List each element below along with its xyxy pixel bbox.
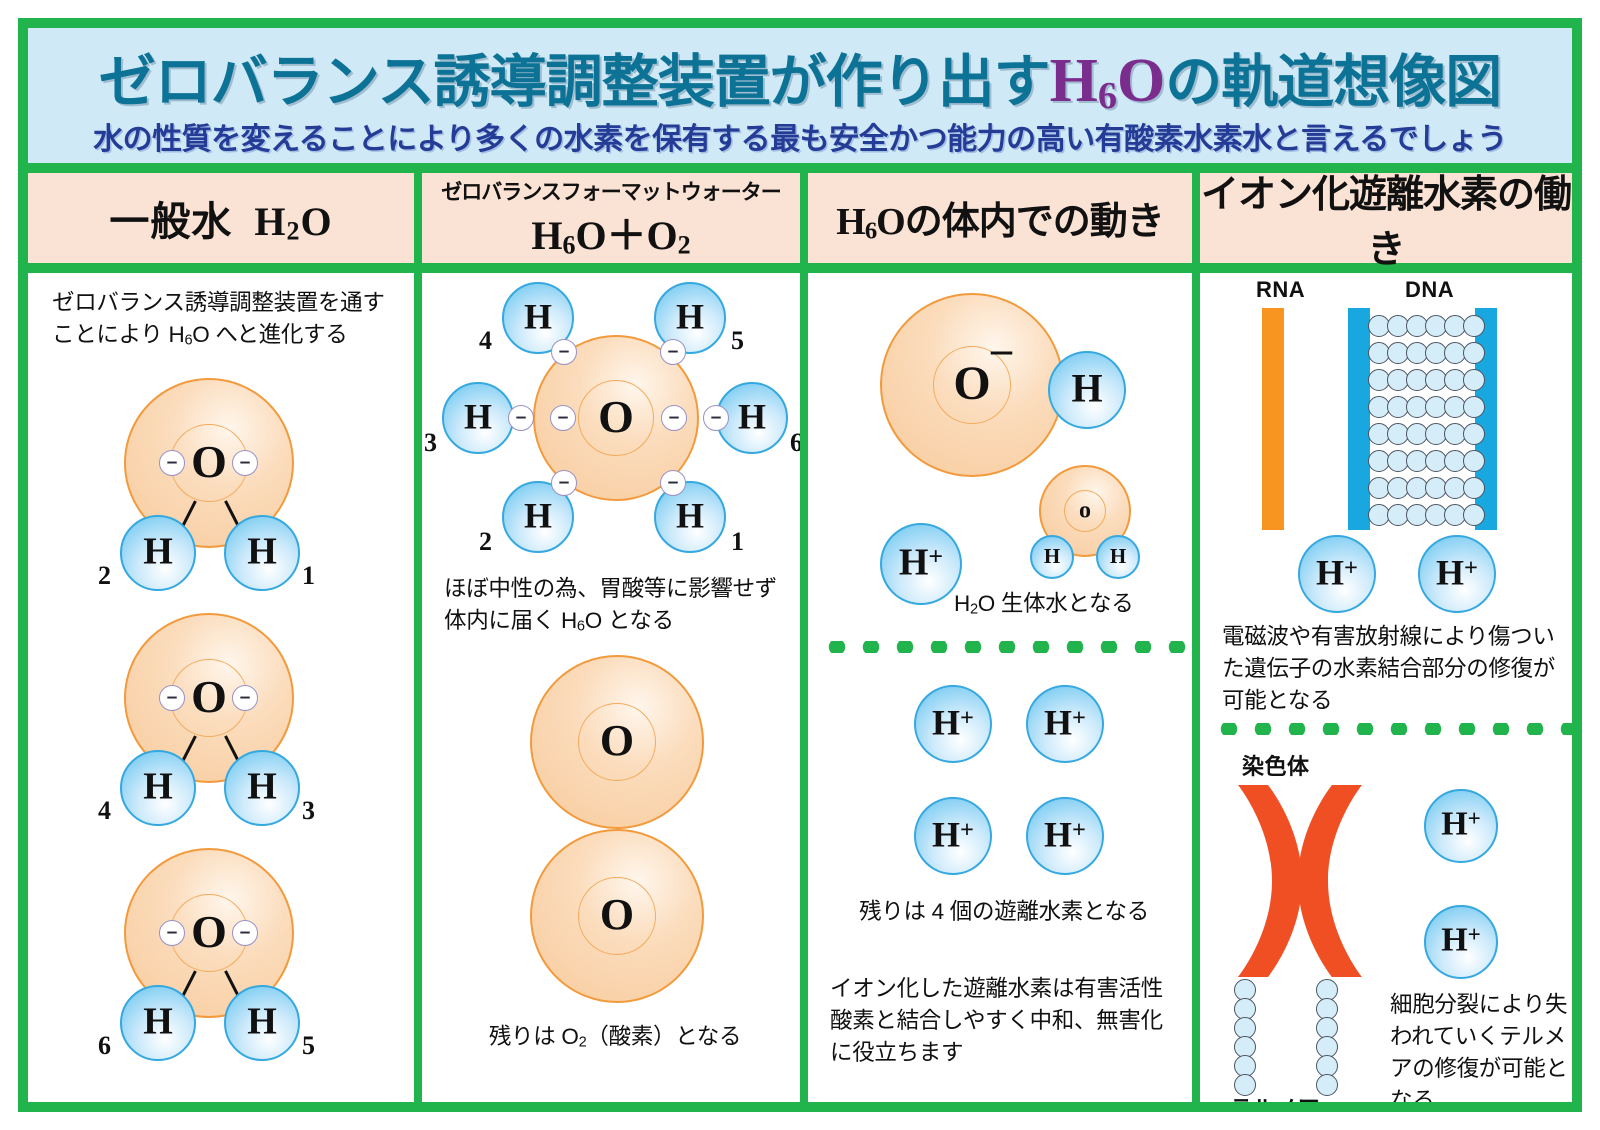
heading-small-text: ゼロバランスフォーマットウォーター (441, 176, 781, 206)
base-bead (1463, 504, 1485, 526)
oxygen-atom: O (530, 655, 704, 829)
electron-charge-icon: – (660, 339, 686, 365)
hydrogen-atom: H (1096, 535, 1140, 579)
chromosome-icon (1230, 781, 1370, 981)
biowater-caption: H2O 生体水となる (954, 588, 1192, 620)
hydrogen-atom: H (120, 750, 196, 826)
column-header-row: 一般水 H2O ゼロバランスフォーマットウォーター H6O＋O2 H6Oの体内で… (28, 173, 1572, 273)
oxygen-label: O (600, 893, 634, 937)
electron-charge-icon: – (159, 920, 185, 946)
oxygen-label: O (191, 674, 227, 720)
electron-charge-icon: – (550, 405, 576, 431)
oxygen-label: o (1079, 499, 1091, 523)
heading-formula: H6O＋O2 (441, 203, 781, 261)
column-heading-ionized-hydrogen: イオン化遊離水素の働き (1192, 173, 1572, 263)
electron-charge-icon: – (661, 405, 687, 431)
dna-base-pair-row (1368, 423, 1485, 445)
dna-label: DNA (1405, 277, 1454, 303)
column-body-row: ゼロバランス誘導調整装置を通すことにより H6O へと進化する O – – H … (28, 273, 1572, 1102)
hydrogen-index-label: 1 (731, 527, 744, 557)
h6o-caption: ほぼ中性の為、胃酸等に影響せず体内に届く H6O となる (444, 573, 790, 637)
dna-base-pair-row (1368, 396, 1485, 418)
oxygen-label: O (191, 909, 227, 955)
oxygen-label: O (600, 719, 634, 763)
base-bead (1463, 423, 1485, 445)
heading-text: H6Oの体内での動き (836, 190, 1163, 245)
hydrogen-atom: H (1048, 351, 1126, 429)
hydrogen-index-label: 2 (98, 561, 111, 591)
hydrogen-atom: H (224, 985, 300, 1061)
hydrogen-index-label: 3 (424, 428, 437, 458)
hydrogen-atom: H (1030, 535, 1074, 579)
oxygen-atom: O (880, 293, 1064, 477)
base-bead (1463, 369, 1485, 391)
oxygen-label: O (598, 394, 634, 440)
free-proton: H+ (1026, 685, 1104, 763)
electron-charge-icon: – (508, 405, 534, 431)
oxygen-label: O (191, 439, 227, 485)
column-heading-h6o-in-body: H6Oの体内での動き (800, 173, 1192, 263)
general-water-description: ゼロバランス誘導調整装置を通すことにより H6O へと進化する (52, 287, 392, 351)
free-proton: H+ (1418, 535, 1496, 613)
base-bead (1463, 477, 1485, 499)
column-h6o-in-body: O – H H+ o H H H2O 生体水となる H+ H+ (800, 273, 1192, 1102)
rna-strand (1262, 308, 1284, 530)
hydrogen-index-label: 3 (302, 796, 315, 826)
dna-base-pair-row (1368, 450, 1485, 472)
column-ionized-hydrogen: RNA DNA H+ H+ 電磁波や有害放射線により傷ついた遺伝子の水素結合部分… (1192, 273, 1572, 1102)
free-hydrogen-caption: 残りは 4 個の遊離水素となる (808, 896, 1192, 928)
base-bead (1463, 342, 1485, 364)
title-text-pre: ゼロバランス誘導調整装置が作り出す (99, 51, 1050, 114)
negative-charge-label: – (991, 326, 1012, 374)
chromosome-label: 染色体 (1242, 749, 1310, 781)
page-subtitle: 水の性質を変えることにより多くの水素を保有する最も安全かつ能力の高い有酸素水素水… (28, 114, 1572, 158)
electron-charge-icon: – (703, 405, 729, 431)
hydrogen-index-label: 1 (302, 561, 315, 591)
hydrogen-atom: H (224, 515, 300, 591)
hydrogen-index-label: 2 (479, 527, 492, 557)
column-heading-zero-balance-water: ゼロバランスフォーマットウォーター H6O＋O2 (414, 173, 800, 263)
hydrogen-atom: H (224, 750, 300, 826)
electron-charge-icon: – (232, 920, 258, 946)
title-text-post: の軌道想像図 (1165, 51, 1501, 114)
hydrogen-index-label: 5 (302, 1031, 315, 1061)
section-divider-dots (1212, 723, 1572, 735)
poster-header: ゼロバランス誘導調整装置が作り出すH6Oの軌道想像図 水の性質を変えることにより… (28, 28, 1572, 173)
electron-charge-icon: – (159, 450, 185, 476)
oxygen-atom: O (530, 829, 704, 1003)
free-proton: H+ (1424, 789, 1498, 863)
free-proton: H+ (1298, 535, 1376, 613)
free-proton: H+ (1026, 797, 1104, 875)
hydrogen-index-label: 5 (731, 326, 744, 356)
free-proton: H+ (880, 523, 962, 605)
base-bead (1463, 450, 1485, 472)
page-title: ゼロバランス誘導調整装置が作り出すH6Oの軌道想像図 (28, 36, 1572, 118)
free-proton: H+ (914, 797, 992, 875)
column-zero-balance-water: O H H H H H H – – – – – – – – 4 5 (414, 273, 800, 1102)
free-proton: H+ (914, 685, 992, 763)
hydrogen-index-label: 4 (479, 326, 492, 356)
dna-repair-caption: 電磁波や有害放射線により傷ついた遺伝子の水素結合部分の修復が可能となる (1222, 621, 1562, 717)
electron-charge-icon: – (551, 470, 577, 496)
dna-base-pair-row (1368, 504, 1485, 526)
free-hydrogen-note: イオン化した遊離水素は有害活性酸素と結合しやすく中和、無害化に役立ちます (830, 973, 1178, 1069)
hydrogen-index-label: 6 (98, 1031, 111, 1061)
electron-charge-icon: – (232, 450, 258, 476)
hydrogen-index-label: 4 (98, 796, 111, 826)
column-heading-general-water: 一般水 H2O (28, 173, 414, 263)
telomere-strand-left (1234, 979, 1256, 1096)
poster-frame: ゼロバランス誘導調整装置が作り出すH6Oの軌道想像図 水の性質を変えることにより… (18, 18, 1582, 1112)
electron-charge-icon: – (232, 685, 258, 711)
title-formula-h6o: H6O (1050, 47, 1166, 115)
electron-charge-icon: – (660, 470, 686, 496)
rna-label: RNA (1256, 277, 1305, 303)
dna-base-pair-row (1368, 477, 1485, 499)
heading-text: イオン化遊離水素の働き (1200, 163, 1572, 273)
hydrogen-atom: H (120, 515, 196, 591)
oxygen-label: O (953, 360, 990, 408)
hydrogen-atom: H (442, 382, 514, 454)
free-proton: H+ (1424, 905, 1498, 979)
dna-base-pair-row (1368, 369, 1485, 391)
base-bead (1463, 396, 1485, 418)
electron-charge-icon: – (159, 685, 185, 711)
dna-base-pair-row (1368, 342, 1485, 364)
section-divider-dots (820, 641, 1188, 653)
o2-caption: 残りは O2（酸素）となる (422, 1021, 800, 1053)
telomere-repair-caption: 細胞分裂により失われていくテルメアの修復が可能となる (1390, 989, 1568, 1102)
hydrogen-atom: H (120, 985, 196, 1061)
telomere-label: テルメア (1230, 1091, 1320, 1102)
telomere-strand-right (1316, 979, 1338, 1096)
dna-base-pair-row (1368, 315, 1485, 337)
electron-charge-icon: – (551, 339, 577, 365)
base-bead (1463, 315, 1485, 337)
hydrogen-index-label: 6 (790, 428, 800, 458)
dna-strand-left (1348, 308, 1370, 530)
heading-text: 一般水 H2O (109, 189, 332, 247)
column-general-water: ゼロバランス誘導調整装置を通すことにより H6O へと進化する O – – H … (28, 273, 414, 1102)
